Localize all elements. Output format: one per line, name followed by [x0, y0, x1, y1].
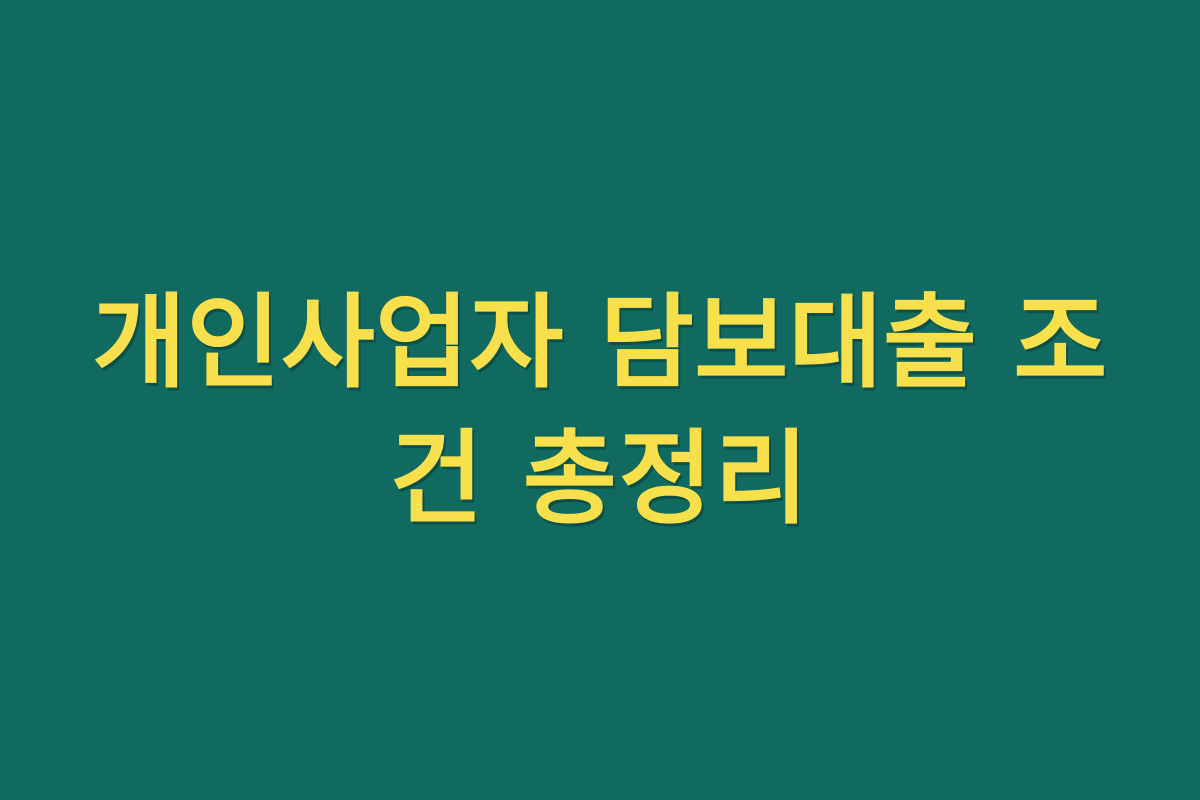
title-line-2: 건 총정리 — [70, 412, 1130, 548]
title-line-1: 개인사업자 담보대출 조 — [70, 276, 1130, 412]
page-title: 개인사업자 담보대출 조 건 총정리 — [0, 276, 1200, 547]
banner-canvas: 개인사업자 담보대출 조 건 총정리 — [0, 0, 1200, 800]
